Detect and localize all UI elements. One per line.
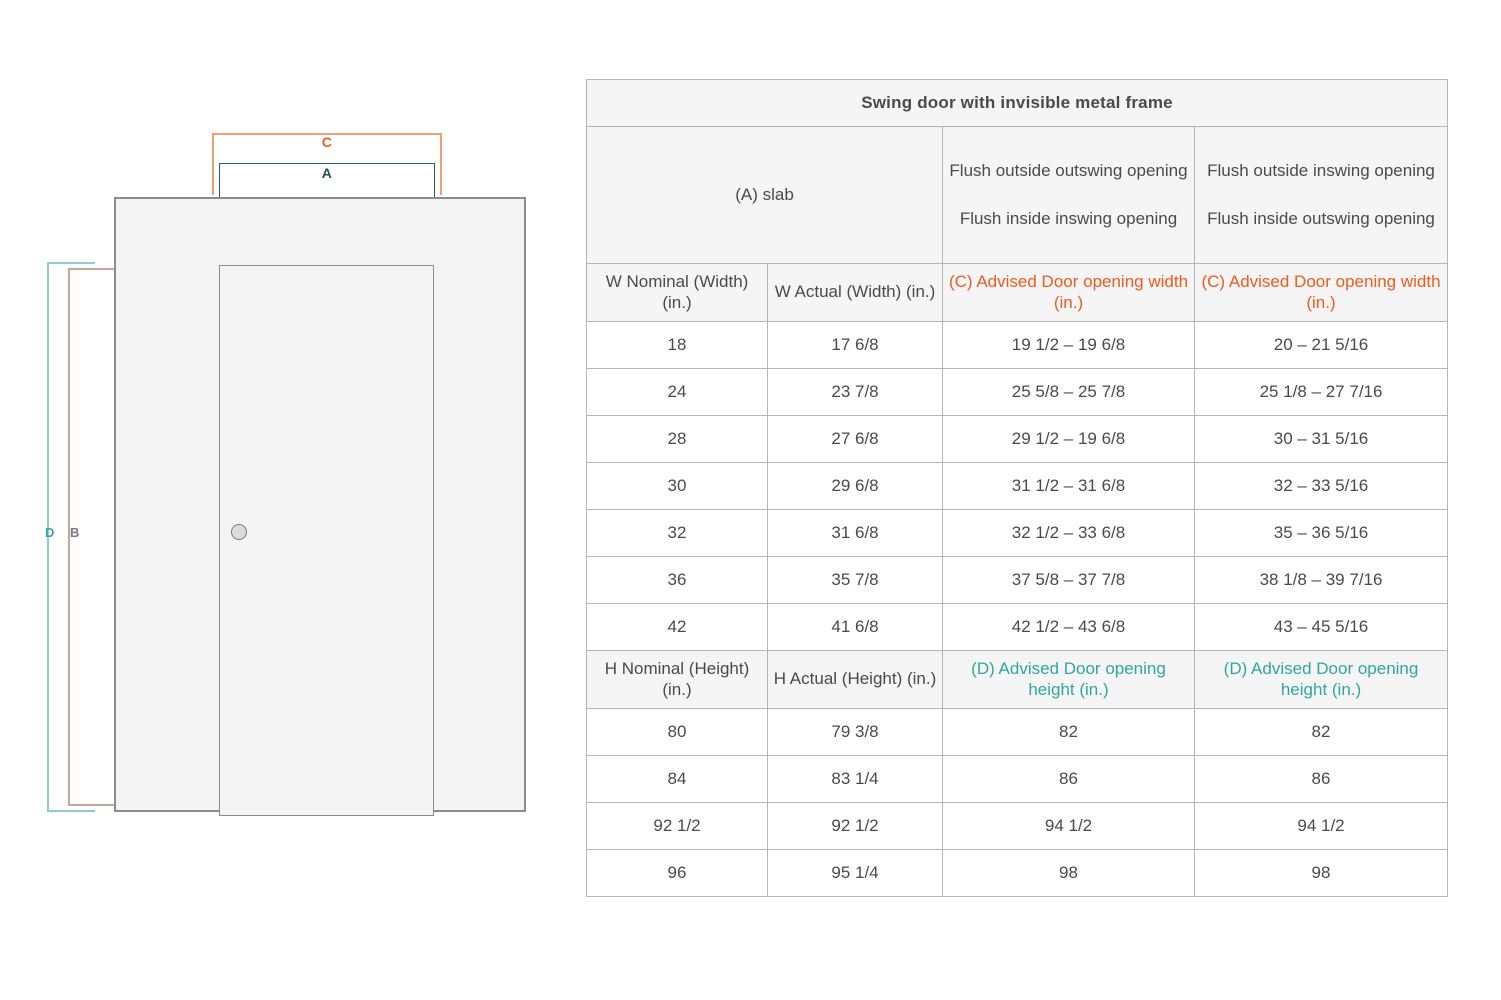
cell-width-outswing: 37 5/8 – 37 7/8 [943, 557, 1195, 604]
table-row: 32 31 6/8 32 1/2 – 33 6/8 35 – 36 5/16 [587, 510, 1448, 557]
cell-width-inswing: 20 – 21 5/16 [1195, 322, 1448, 369]
header-h-nominal: H Nominal (Height) (in.) [587, 651, 768, 709]
height-column-header-row: H Nominal (Height) (in.) H Actual (Heigh… [587, 651, 1448, 709]
cell-width-outswing: 29 1/2 – 19 6/8 [943, 416, 1195, 463]
header-w-actual: W Actual (Width) (in.) [768, 264, 943, 322]
group-header-outswing-line2: Flush inside inswing opening [947, 208, 1190, 230]
door-slab-rect [219, 265, 434, 816]
cell-w-actual: 23 7/8 [768, 369, 943, 416]
cell-h-nominal: 80 [587, 709, 768, 756]
cell-width-inswing: 30 – 31 5/16 [1195, 416, 1448, 463]
cell-h-actual: 79 3/8 [768, 709, 943, 756]
cell-w-nominal: 24 [587, 369, 768, 416]
cell-w-actual: 29 6/8 [768, 463, 943, 510]
spec-table-container: Swing door with invisible metal frame (A… [586, 79, 1447, 897]
header-w-nominal: W Nominal (Width) (in.) [587, 264, 768, 322]
cell-height-outswing: 98 [943, 850, 1195, 897]
cell-w-nominal: 30 [587, 463, 768, 510]
cell-w-nominal: 28 [587, 416, 768, 463]
group-header-outswing-line1: Flush outside outswing opening [947, 160, 1190, 182]
door-specification-table: Swing door with invisible metal frame (A… [586, 79, 1448, 897]
page-root: C A D B Swing door with invisible metal … [0, 0, 1501, 1000]
dimension-label-a: A [219, 165, 435, 181]
cell-w-nominal: 36 [587, 557, 768, 604]
width-column-header-row: W Nominal (Width) (in.) W Actual (Width)… [587, 264, 1448, 322]
table-row: 28 27 6/8 29 1/2 – 19 6/8 30 – 31 5/16 [587, 416, 1448, 463]
table-title-row: Swing door with invisible metal frame [587, 80, 1448, 127]
cell-width-inswing: 43 – 45 5/16 [1195, 604, 1448, 651]
dimension-label-d: D [45, 525, 54, 540]
cell-width-inswing: 25 1/8 – 27 7/16 [1195, 369, 1448, 416]
cell-width-outswing: 25 5/8 – 25 7/8 [943, 369, 1195, 416]
group-header-outswing-col: Flush outside outswing opening Flush ins… [943, 127, 1195, 264]
table-row: 80 79 3/8 82 82 [587, 709, 1448, 756]
cell-h-nominal: 96 [587, 850, 768, 897]
header-advised-height-outswing: (D) Advised Door opening height (in.) [943, 651, 1195, 709]
header-advised-width-inswing: (C) Advised Door opening width (in.) [1195, 264, 1448, 322]
door-diagram: C A D B [0, 0, 586, 1000]
cell-height-outswing: 82 [943, 709, 1195, 756]
cell-w-actual: 17 6/8 [768, 322, 943, 369]
cell-w-actual: 35 7/8 [768, 557, 943, 604]
cell-h-actual: 92 1/2 [768, 803, 943, 850]
header-advised-width-outswing: (C) Advised Door opening width (in.) [943, 264, 1195, 322]
cell-w-actual: 31 6/8 [768, 510, 943, 557]
cell-width-outswing: 31 1/2 – 31 6/8 [943, 463, 1195, 510]
table-row: 30 29 6/8 31 1/2 – 31 6/8 32 – 33 5/16 [587, 463, 1448, 510]
dimension-label-b: B [70, 525, 79, 540]
cell-width-inswing: 38 1/8 – 39 7/16 [1195, 557, 1448, 604]
dimension-label-c: C [212, 134, 442, 150]
group-header-inswing-line2: Flush inside outswing opening [1199, 208, 1443, 230]
cell-height-outswing: 86 [943, 756, 1195, 803]
group-header-inswing-col: Flush outside inswing opening Flush insi… [1195, 127, 1448, 264]
door-handle-icon [231, 524, 247, 540]
table-row: 36 35 7/8 37 5/8 – 37 7/8 38 1/8 – 39 7/… [587, 557, 1448, 604]
header-advised-height-inswing: (D) Advised Door opening height (in.) [1195, 651, 1448, 709]
group-header-inswing-line1: Flush outside inswing opening [1199, 160, 1443, 182]
cell-width-outswing: 32 1/2 – 33 6/8 [943, 510, 1195, 557]
table-title: Swing door with invisible metal frame [587, 80, 1448, 127]
table-group-header-row: (A) slab Flush outside outswing opening … [587, 127, 1448, 264]
cell-width-inswing: 32 – 33 5/16 [1195, 463, 1448, 510]
cell-h-nominal: 92 1/2 [587, 803, 768, 850]
cell-w-nominal: 42 [587, 604, 768, 651]
table-row: 96 95 1/4 98 98 [587, 850, 1448, 897]
header-h-actual: H Actual (Height) (in.) [768, 651, 943, 709]
cell-height-outswing: 94 1/2 [943, 803, 1195, 850]
table-row: 42 41 6/8 42 1/2 – 43 6/8 43 – 45 5/16 [587, 604, 1448, 651]
cell-w-actual: 27 6/8 [768, 416, 943, 463]
cell-h-actual: 95 1/4 [768, 850, 943, 897]
cell-height-inswing: 98 [1195, 850, 1448, 897]
group-header-slab: (A) slab [587, 127, 943, 264]
table-row: 18 17 6/8 19 1/2 – 19 6/8 20 – 21 5/16 [587, 322, 1448, 369]
cell-width-outswing: 19 1/2 – 19 6/8 [943, 322, 1195, 369]
table-row: 24 23 7/8 25 5/8 – 25 7/8 25 1/8 – 27 7/… [587, 369, 1448, 416]
cell-w-nominal: 18 [587, 322, 768, 369]
cell-height-inswing: 82 [1195, 709, 1448, 756]
cell-w-nominal: 32 [587, 510, 768, 557]
table-row: 92 1/2 92 1/2 94 1/2 94 1/2 [587, 803, 1448, 850]
cell-height-inswing: 86 [1195, 756, 1448, 803]
cell-width-inswing: 35 – 36 5/16 [1195, 510, 1448, 557]
cell-w-actual: 41 6/8 [768, 604, 943, 651]
cell-h-actual: 83 1/4 [768, 756, 943, 803]
cell-width-outswing: 42 1/2 – 43 6/8 [943, 604, 1195, 651]
cell-height-inswing: 94 1/2 [1195, 803, 1448, 850]
table-row: 84 83 1/4 86 86 [587, 756, 1448, 803]
cell-h-nominal: 84 [587, 756, 768, 803]
